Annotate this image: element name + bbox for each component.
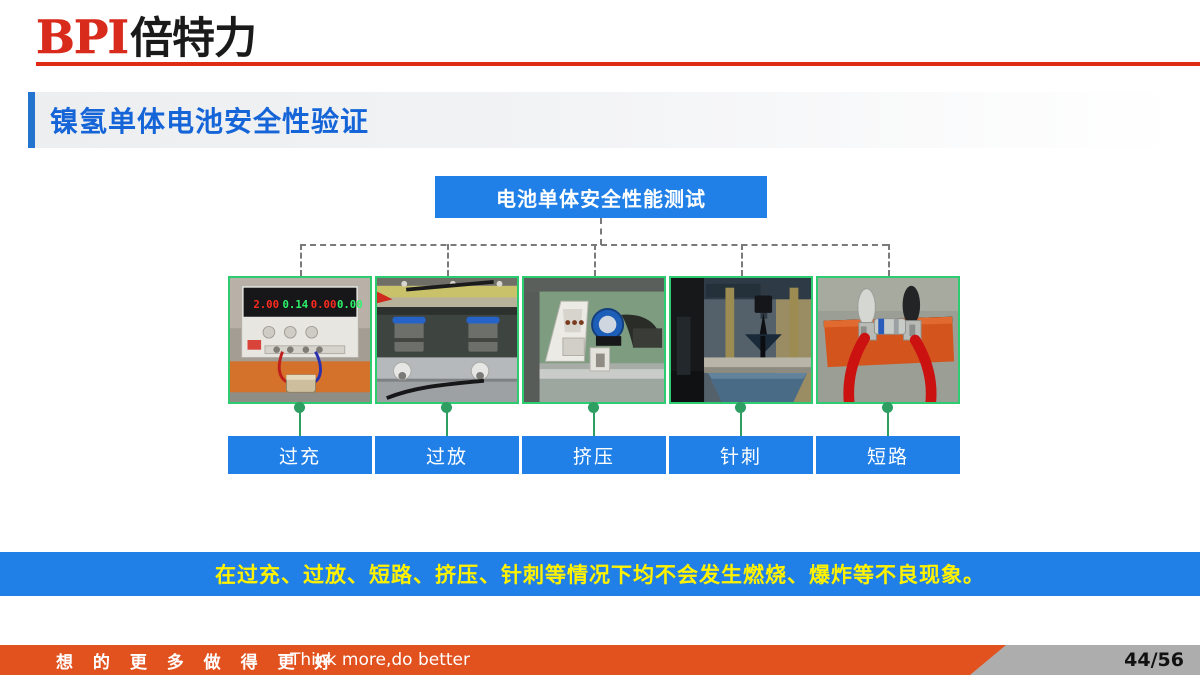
test-label-overcharge-text: 过充	[279, 442, 321, 469]
test-label-overcharge: 过充	[228, 436, 372, 474]
svg-text:0.00: 0.00	[311, 298, 337, 311]
brand-logo: BPI 倍特力	[36, 14, 256, 61]
test-label-overdischarge: 过放	[375, 436, 519, 474]
header-divider-rule	[36, 62, 1200, 66]
test-label-overdischarge-text: 过放	[426, 442, 468, 469]
test-label-crush: 挤压	[522, 436, 666, 474]
brand-logo-chinese: 倍特力	[130, 18, 256, 61]
connector-drop-5	[888, 244, 890, 276]
test-label-short-circuit: 短路	[816, 436, 960, 474]
svg-text:0.14: 0.14	[283, 298, 309, 311]
footer-slogan-english: Think more,do better	[290, 645, 470, 675]
brand-logo-latin: BPI	[36, 14, 128, 60]
connector-drop-1	[300, 244, 302, 276]
connector-drop-3	[594, 244, 596, 276]
crush-test-photo	[522, 276, 666, 404]
conclusion-banner: 在过充、过放、短路、挤压、针刺等情况下均不会发生燃烧、爆炸等不良现象。	[0, 552, 1200, 596]
short-circuit-test-photo	[816, 276, 960, 404]
test-label-nail: 针刺	[669, 436, 813, 474]
test-label-row: 过充 过放 挤压 针刺 短路	[228, 436, 972, 474]
test-label-short-circuit-text: 短路	[867, 442, 909, 469]
connector-stem	[600, 218, 602, 245]
test-label-nail-text: 针刺	[720, 442, 762, 469]
header-logo-bar: BPI 倍特力	[0, 0, 1200, 76]
test-label-crush-text: 挤压	[573, 442, 615, 469]
nail-penetration-test-photo	[669, 276, 813, 404]
page-number: 44/56	[1124, 645, 1184, 675]
svg-text:0.00: 0.00	[337, 298, 363, 311]
overdischarge-test-photo	[375, 276, 519, 404]
slide-footer: 想 的 更 多 做 得 更 好 Think more,do better 44/…	[0, 645, 1200, 675]
slide-title-accent-bar	[28, 92, 35, 148]
diagram-root-node: 电池单体安全性能测试	[435, 176, 767, 218]
connector-drop-4	[741, 244, 743, 276]
safety-test-diagram: 电池单体安全性能测试 2.00 0.14 0.00 0.00	[0, 160, 1200, 490]
svg-text:2.00: 2.00	[253, 298, 279, 311]
page-title: 镍氢单体电池安全性验证	[50, 92, 369, 148]
connector-drop-2	[447, 244, 449, 276]
overcharge-test-photo: 2.00 0.14 0.00 0.00	[228, 276, 372, 404]
diagram-root-node-label: 电池单体安全性能测试	[496, 183, 706, 212]
conclusion-text: 在过充、过放、短路、挤压、针刺等情况下均不会发生燃烧、爆炸等不良现象。	[215, 559, 985, 589]
test-photo-row: 2.00 0.14 0.00 0.00	[228, 276, 972, 404]
